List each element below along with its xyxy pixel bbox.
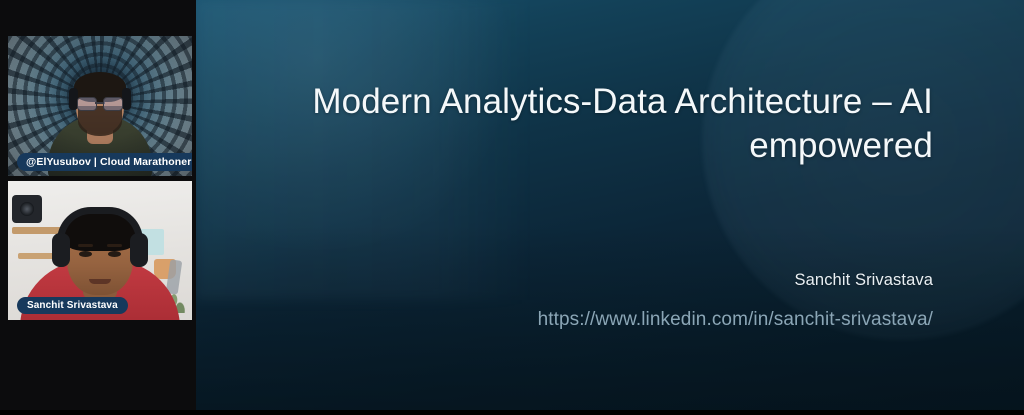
slide-text-block: Modern Analytics-Data Architecture – AI … — [236, 0, 933, 410]
slide-speaker-link: https://www.linkedin.com/in/sanchit-sriv… — [236, 306, 933, 334]
headphone-cup-right — [130, 233, 148, 267]
participant-eyebrow-right — [107, 244, 122, 247]
participant-video-strip: @ElYusubov | Cloud Marathoner — [0, 0, 196, 415]
participant-mouth — [89, 279, 111, 284]
shared-presentation-slide[interactable]: Modern Analytics-Data Architecture – AI … — [196, 0, 1024, 410]
webcam-tile-sanchit[interactable]: Sanchit Srivastava — [8, 181, 192, 320]
headphone-cup-left — [52, 233, 70, 267]
slide-title: Modern Analytics-Data Architecture – AI … — [236, 80, 933, 168]
participant-eyebrow-left — [78, 244, 93, 247]
shelf-camera-decoration — [12, 195, 42, 223]
slide-speaker-name: Sanchit Srivastava — [236, 271, 933, 290]
participant-name-label: Sanchit Srivastava — [17, 297, 128, 314]
bottom-letterbox-bar — [0, 410, 1024, 415]
participant-eye-right — [108, 251, 121, 257]
participant-eye-left — [79, 251, 92, 257]
webcam-tile-elyusubov[interactable]: @ElYusubov | Cloud Marathoner — [8, 36, 192, 176]
participant-name-label: @ElYusubov | Cloud Marathoner — [17, 153, 192, 171]
video-call-screen: @ElYusubov | Cloud Marathoner — [0, 0, 1024, 415]
